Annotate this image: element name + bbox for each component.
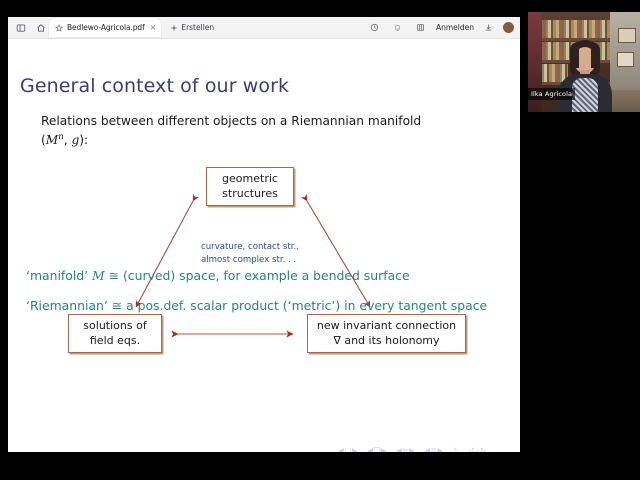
signin-button[interactable]: Anmelden bbox=[436, 23, 474, 32]
closing-line-manifold: ‘manifold’ M ≅ (curved) space, for examp… bbox=[26, 268, 410, 283]
annotation-line2: almost complex str. . . bbox=[201, 255, 296, 265]
annotation-line1: curvature, contact str., bbox=[201, 242, 299, 252]
browser-toolbar-right: Anmelden bbox=[366, 19, 516, 36]
nav-group-frame[interactable]: ◀ ❐ ▶ bbox=[367, 447, 386, 452]
box-connection-line2: ∇ and its holonomy bbox=[333, 334, 439, 347]
history-icon[interactable] bbox=[366, 19, 383, 36]
collections-icon[interactable] bbox=[412, 19, 429, 36]
nav-group-doc[interactable]: ↰ bbox=[453, 447, 459, 452]
wall-picture-frame-2 bbox=[617, 52, 634, 67]
participant-avatar bbox=[558, 40, 612, 112]
intro-math-close: ): bbox=[79, 133, 88, 147]
nav-group-zoom[interactable]: ↺ ⌕ ↻ bbox=[468, 447, 485, 452]
beamer-navigation-bar[interactable]: ◀ □ ▶ ◀ ❐ ▶ ◀ ≡ ▶ bbox=[338, 447, 486, 452]
nav-prev-slide-icon[interactable]: ◀ bbox=[338, 447, 343, 452]
intro-line-1: Relations between different objects on a… bbox=[41, 114, 421, 128]
nav-prev-frame-icon[interactable]: ◀ bbox=[367, 447, 372, 452]
nav-prev-section-icon[interactable]: ◀ bbox=[424, 447, 429, 452]
bell-icon[interactable] bbox=[389, 19, 406, 36]
arrow-geometric-connection bbox=[307, 201, 370, 307]
presentation-slide: General context of our work Relations be… bbox=[8, 39, 520, 452]
slide-title: General context of our work bbox=[20, 75, 289, 97]
video-call-screen: Bedlewo-Agricola.pdf × Erstellen bbox=[0, 0, 640, 480]
sidebar-icon[interactable] bbox=[12, 19, 29, 36]
nav-group-section[interactable]: ◀ ≣ ▶ bbox=[424, 447, 442, 452]
wall-picture-frame-1 bbox=[618, 28, 636, 43]
nav-undo-icon[interactable]: ↺ bbox=[468, 447, 474, 452]
tab-strip: Bedlewo-Agricola.pdf × Erstellen bbox=[49, 17, 366, 38]
new-tab-label: Erstellen bbox=[181, 23, 214, 32]
browser-tab-active[interactable]: Bedlewo-Agricola.pdf × bbox=[49, 18, 161, 37]
nav-back-icon[interactable]: ↰ bbox=[453, 447, 459, 452]
profile-avatar-icon[interactable] bbox=[503, 22, 514, 33]
intro-math-m: M bbox=[46, 133, 58, 147]
box-connection-line1: new invariant connection bbox=[317, 319, 456, 332]
participant-name-label: Ilka Agricola bbox=[528, 88, 575, 100]
bookshelf-row-1 bbox=[538, 20, 612, 38]
diagram-box-new-invariant-connection: new invariant connection ∇ and its holon… bbox=[307, 314, 466, 353]
diagram-box-geometric-structures: geometric structures bbox=[206, 167, 294, 206]
nav-next-section-icon[interactable]: ▶ bbox=[437, 447, 442, 452]
plus-icon bbox=[169, 23, 178, 32]
box-solutions-line2: field eqs. bbox=[90, 334, 140, 347]
search-icon[interactable]: ⌕ bbox=[475, 447, 479, 452]
box-geometric-line2: structures bbox=[222, 187, 278, 200]
nav-next-slide-icon[interactable]: ▶ bbox=[352, 447, 357, 452]
box-solutions-line1: solutions of bbox=[83, 319, 146, 332]
download-icon[interactable] bbox=[480, 19, 497, 36]
closing-line1-pre: ‘manifold’ bbox=[26, 268, 92, 283]
nav-next-subsection-icon[interactable]: ▶ bbox=[409, 447, 414, 452]
shared-browser-window: Bedlewo-Agricola.pdf × Erstellen bbox=[8, 17, 520, 452]
diagram-box-solutions-field-eqs: solutions of field eqs. bbox=[68, 314, 162, 353]
diagram-annotation-curvature: curvature, contact str., almost complex … bbox=[201, 241, 299, 268]
person-blouse bbox=[572, 78, 598, 112]
relations-diagram: geometric structures solutions of field … bbox=[8, 159, 520, 359]
nav-prev-subsection-icon[interactable]: ◀ bbox=[396, 447, 401, 452]
home-icon[interactable] bbox=[32, 19, 49, 36]
arrow-geometric-solutions bbox=[136, 201, 193, 307]
box-geometric-line1: geometric bbox=[222, 172, 278, 185]
closing-line1-post: ≅ (curved) space, for example a bended s… bbox=[105, 268, 410, 283]
browser-tab-bar: Bedlewo-Agricola.pdf × Erstellen bbox=[8, 17, 520, 39]
browser-tab-title: Bedlewo-Agricola.pdf bbox=[67, 23, 145, 32]
pdf-viewer-page[interactable]: General context of our work Relations be… bbox=[8, 39, 520, 452]
person-hair-left bbox=[570, 42, 579, 68]
nav-redo-icon[interactable]: ↻ bbox=[480, 447, 486, 452]
nav-slide-icon[interactable]: □ bbox=[344, 447, 351, 452]
star-icon bbox=[54, 23, 63, 32]
nav-subsection-icon[interactable]: ≡ bbox=[402, 447, 408, 452]
participant-video-tile[interactable]: Ilka Agricola bbox=[528, 12, 640, 112]
nav-group-slide[interactable]: ◀ □ ▶ bbox=[338, 447, 357, 452]
new-tab-button[interactable]: Erstellen bbox=[169, 23, 214, 32]
nav-group-subsection[interactable]: ◀ ≡ ▶ bbox=[396, 447, 414, 452]
slide-intro-text: Relations between different objects on a… bbox=[41, 113, 491, 149]
nav-section-icon[interactable]: ≣ bbox=[431, 447, 437, 452]
closing-line-riemannian: ‘Riemannian’ ≅ a pos.def. scalar product… bbox=[26, 297, 496, 316]
person-hair-right bbox=[591, 42, 600, 68]
nav-frame-icon[interactable]: ❐ bbox=[373, 447, 379, 452]
closing-line1-var: M bbox=[92, 268, 105, 283]
close-icon[interactable]: × bbox=[149, 24, 158, 32]
nav-next-frame-icon[interactable]: ▶ bbox=[381, 447, 386, 452]
